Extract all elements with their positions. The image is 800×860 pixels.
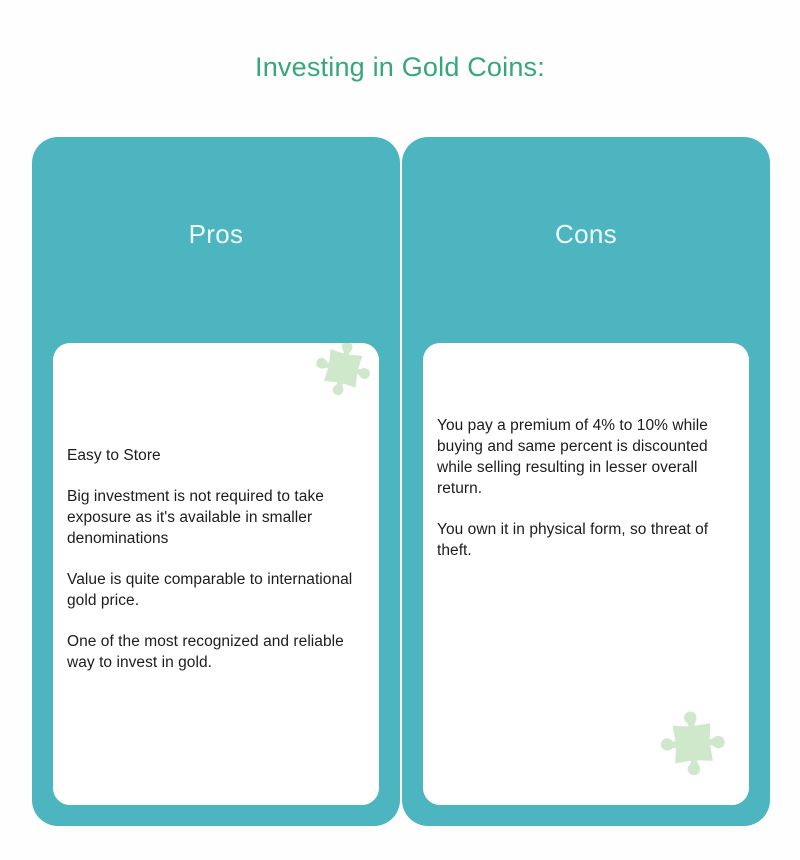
pros-cons-board: Pros Easy to Store Big investment is not… — [32, 137, 770, 826]
puzzle-piece-icon — [654, 702, 746, 794]
pros-item-2: Big investment is not required to take e… — [67, 486, 365, 549]
pros-card: Easy to Store Big investment is not requ… — [53, 343, 379, 805]
pros-card-body: Easy to Store Big investment is not requ… — [53, 445, 379, 673]
cons-card-body: You pay a premium of 4% to 10% while buy… — [423, 415, 749, 561]
pros-item-1: Easy to Store — [67, 445, 365, 466]
puzzle-piece-icon — [304, 343, 379, 418]
cons-column-heading: Cons — [402, 219, 770, 250]
cons-column: Cons You pay a premium of 4% to 10% whil… — [402, 137, 770, 826]
page-title: Investing in Gold Coins: — [0, 52, 800, 83]
cons-item-1: You pay a premium of 4% to 10% while buy… — [437, 415, 735, 499]
pros-item-3: Value is quite comparable to internation… — [67, 569, 365, 611]
pros-item-4: One of the most recognized and reliable … — [67, 631, 365, 673]
cons-card: You pay a premium of 4% to 10% while buy… — [423, 343, 749, 805]
pros-column: Pros Easy to Store Big investment is not… — [32, 137, 400, 826]
cons-item-2: You own it in physical form, so threat o… — [437, 519, 735, 561]
pros-column-heading: Pros — [32, 219, 400, 250]
